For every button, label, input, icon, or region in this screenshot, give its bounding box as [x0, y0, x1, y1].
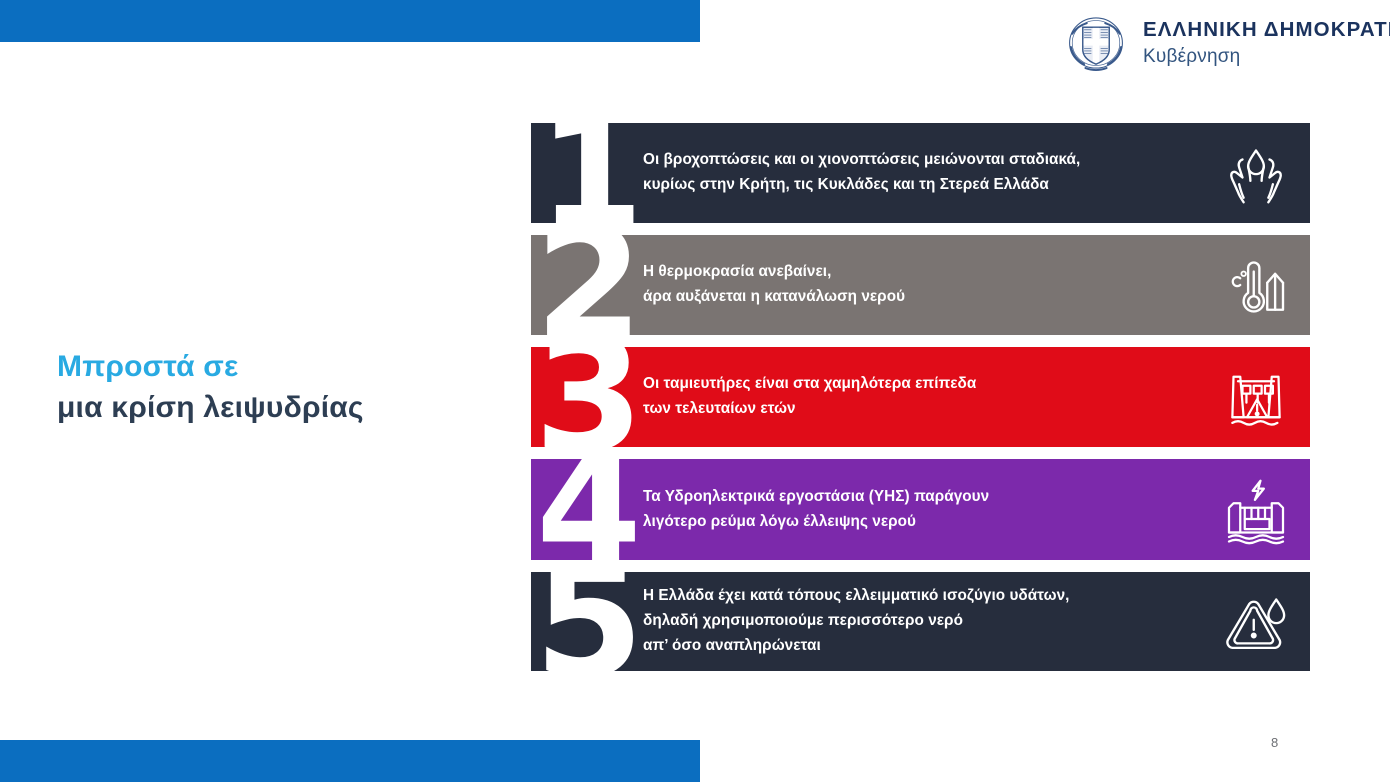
list-item: 2 Η θερμοκρασία ανεβαίνει, άρα αυξάνεται…	[531, 235, 1310, 335]
reservoir-warning-icon	[1220, 361, 1292, 433]
item-text-line: Οι ταμιευτήρες είναι στα χαμηλότερα επίπ…	[643, 372, 976, 397]
warning-triangle-water-drop-icon	[1220, 586, 1292, 658]
item-text-line: Η Ελλάδα έχει κατά τόπους ελλειμματικό ι…	[643, 584, 1069, 609]
item-text-line: Η θερμοκρασία ανεβαίνει,	[643, 260, 905, 285]
item-text-line: λιγότερο ρεύμα λόγω έλλειψης νερού	[643, 510, 989, 535]
item-text-line: των τελευταίων ετών	[643, 397, 976, 422]
top-accent-bar	[0, 0, 700, 42]
item-text: Οι ταμιευτήρες είναι στα χαμηλότερα επίπ…	[643, 372, 976, 422]
item-text-line: Οι βροχοπτώσεις και οι χιονοπτώσεις μειώ…	[643, 148, 1080, 173]
hellenic-republic-emblem	[1063, 10, 1129, 76]
page-number: 8	[1271, 735, 1278, 750]
logo-title: ΕΛΛΗΝΙΚΗ ΔΗΜΟΚΡΑΤΙΑ	[1143, 20, 1390, 41]
hands-water-drop-icon	[1220, 137, 1292, 209]
slide-canvas: ΕΛΛΗΝΙΚΗ ΔΗΜΟΚΡΑΤΙΑ Κυβέρνηση Μπροστά σε…	[0, 0, 1390, 782]
list-item: 5 Η Ελλάδα έχει κατά τόπους ελλειμματικό…	[531, 572, 1310, 671]
list-item: 1 Οι βροχοπτώσεις και οι χιονοπτώσεις με…	[531, 123, 1310, 223]
item-text: Η θερμοκρασία ανεβαίνει, άρα αυξάνεται η…	[643, 260, 905, 310]
item-text-line: Τα Υδροηλεκτρικά εργοστάσια (ΥΗΣ) παράγο…	[643, 485, 989, 510]
logo-subtitle: Κυβέρνηση	[1143, 47, 1390, 66]
page-title-line-1: Μπροστά σε	[57, 347, 477, 388]
page-title-line-2: μια κρίση λειψυδρίας	[57, 388, 477, 429]
item-text: Τα Υδροηλεκτρικά εργοστάσια (ΥΗΣ) παράγο…	[643, 485, 989, 535]
list-item: 3 Οι ταμιευτήρες είναι στα χαμηλότερα επ…	[531, 347, 1310, 447]
item-text: Οι βροχοπτώσεις και οι χιονοπτώσεις μειώ…	[643, 148, 1080, 198]
item-text-line: κυρίως στην Κρήτη, τις Κυκλάδες και τη Σ…	[643, 173, 1080, 198]
page-title: Μπροστά σε μια κρίση λειψυδρίας	[57, 347, 477, 429]
item-text-line: άρα αυξάνεται η κατανάλωση νερού	[643, 285, 905, 310]
bottom-accent-bar	[0, 740, 700, 782]
government-logo: ΕΛΛΗΝΙΚΗ ΔΗΜΟΚΡΑΤΙΑ Κυβέρνηση	[1063, 10, 1390, 76]
hydroelectric-dam-icon	[1220, 474, 1292, 546]
item-text-line: απ’ όσο αναπληρώνεται	[643, 634, 1069, 659]
thermometer-rising-icon	[1220, 249, 1292, 321]
list-item: 4 Τα Υδροηλεκτρικά εργοστάσια (ΥΗΣ) παρά…	[531, 459, 1310, 560]
item-text-line: δηλαδή χρησιμοποιούμε περισσότερο νερό	[643, 609, 1069, 634]
numbered-points-list: 1 Οι βροχοπτώσεις και οι χιονοπτώσεις με…	[531, 123, 1310, 683]
item-text: Η Ελλάδα έχει κατά τόπους ελλειμματικό ι…	[643, 584, 1069, 658]
